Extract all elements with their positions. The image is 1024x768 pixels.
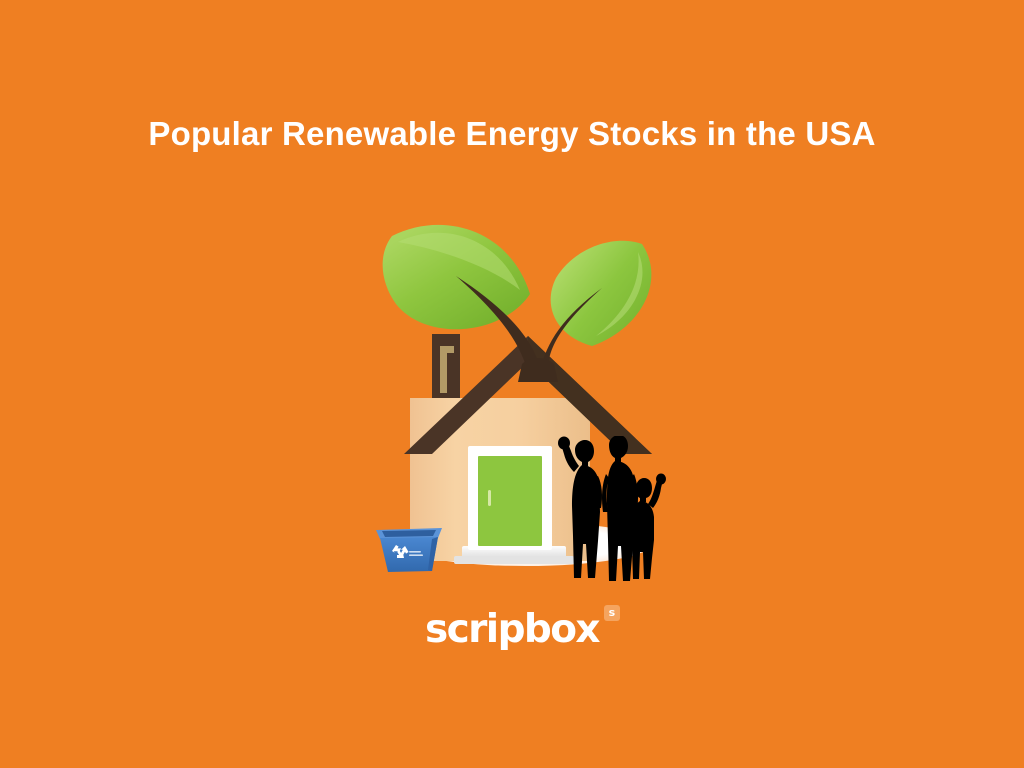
brand-wordmark: scripbox bbox=[425, 607, 599, 652]
family-silhouette-graphic bbox=[557, 436, 667, 586]
stem-base bbox=[518, 358, 558, 382]
poster-canvas: Popular Renewable Energy Stocks in the U… bbox=[0, 0, 1024, 768]
recycling-bin-graphic bbox=[372, 518, 446, 576]
figure-adult-left bbox=[558, 437, 602, 579]
brand-logo-inner: scripbox s bbox=[425, 608, 599, 652]
brand-badge-icon: s bbox=[604, 605, 620, 621]
page-title: Popular Renewable Energy Stocks in the U… bbox=[0, 113, 1024, 155]
brand-logo: scripbox s bbox=[0, 608, 1024, 652]
sprout-plant-graphic bbox=[352, 196, 692, 396]
front-door bbox=[468, 446, 552, 550]
eco-home-illustration bbox=[352, 196, 692, 596]
front-step-lower bbox=[454, 556, 574, 564]
